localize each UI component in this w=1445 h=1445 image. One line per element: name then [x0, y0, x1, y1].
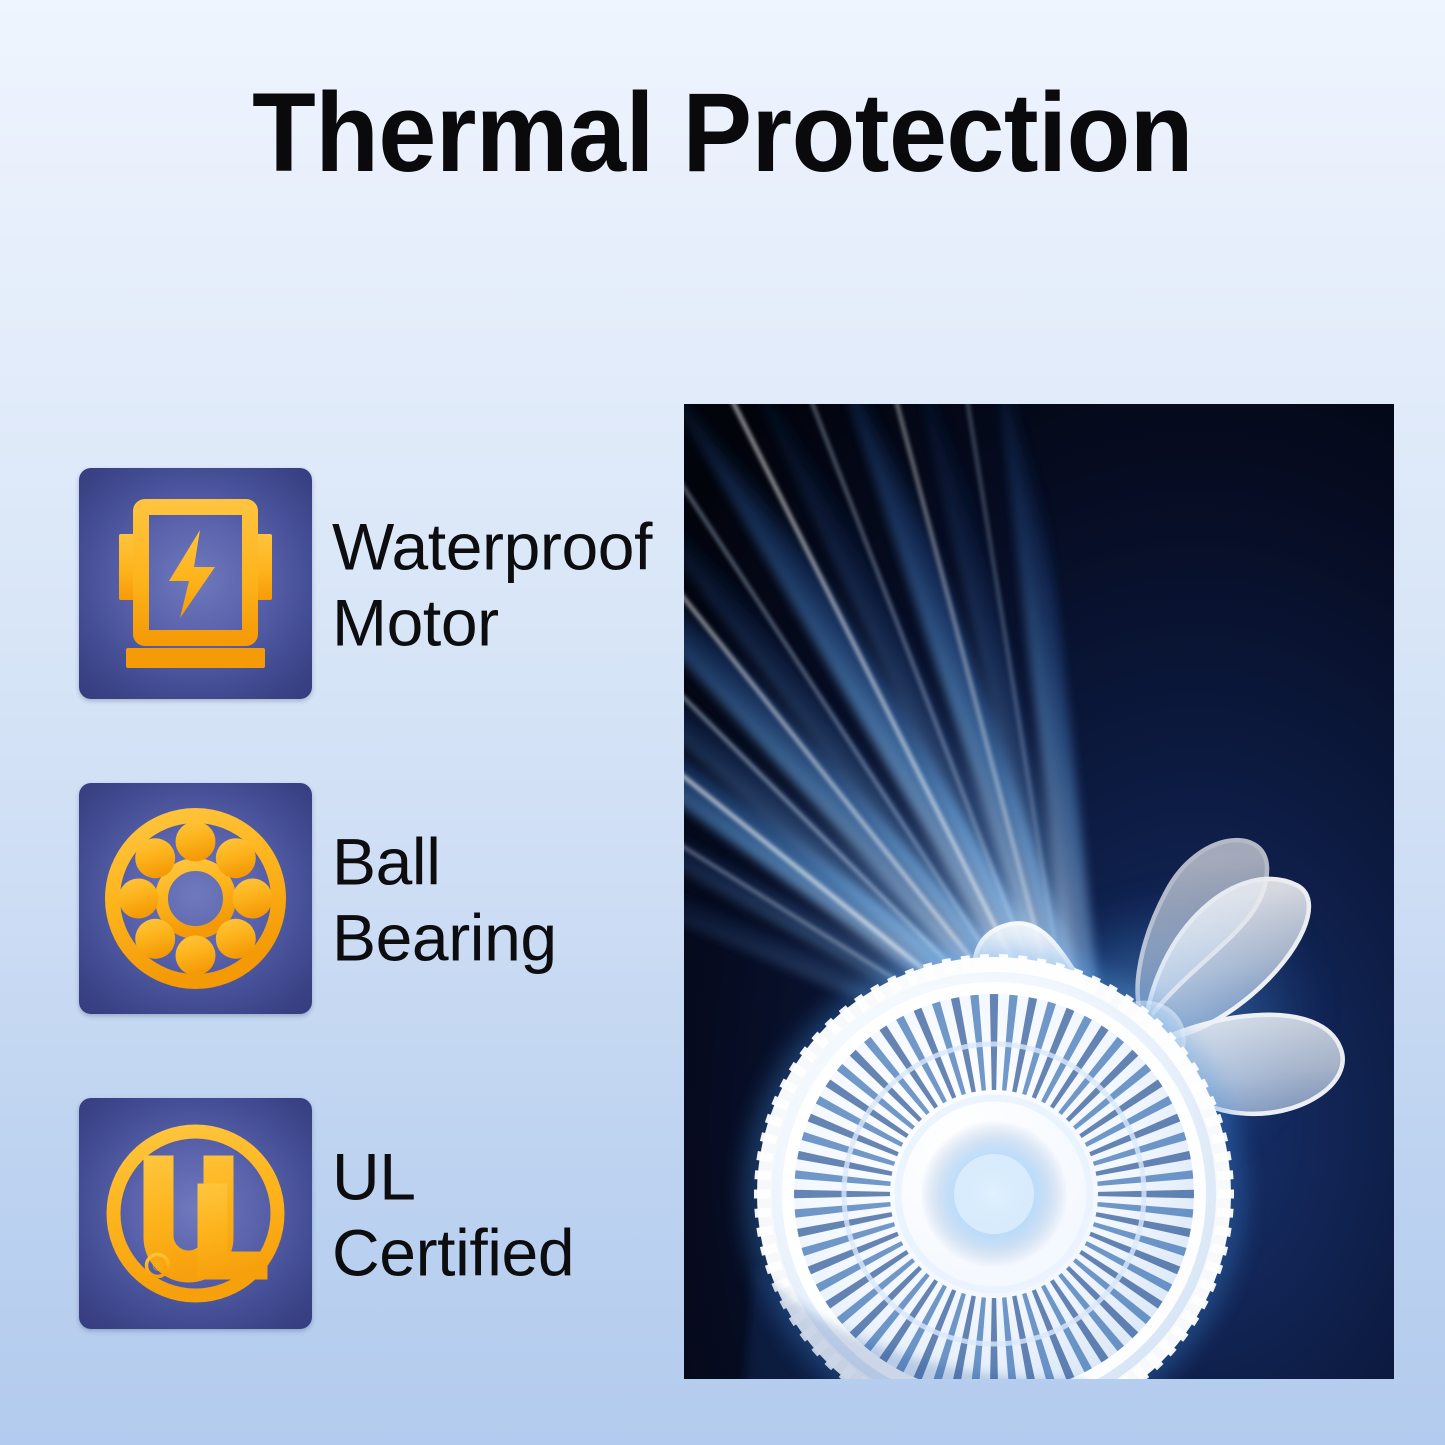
feature-label-ul-certified: UL Certified — [332, 1138, 574, 1291]
feature-list: Waterproof Motor — [79, 468, 679, 1331]
fan-motor-exploded-image — [684, 404, 1394, 1379]
ball-bearing-icon-tile — [79, 783, 312, 1014]
infographic-page: Thermal Protection — [0, 0, 1445, 1445]
registered-mark-glyph: ® — [152, 1260, 163, 1275]
product-photo-panel — [684, 404, 1394, 1379]
feature-item-ball-bearing: Ball Bearing — [79, 783, 679, 1016]
waterproof-motor-icon — [79, 468, 312, 699]
feature-item-waterproof-motor: Waterproof Motor — [79, 468, 679, 701]
ball-bearing-icon — [79, 783, 312, 1014]
feature-label-ball-bearing: Ball Bearing — [332, 823, 557, 976]
ul-certified-icon-tile: ® — [79, 1098, 312, 1329]
ul-certified-icon: ® — [79, 1098, 312, 1329]
waterproof-motor-icon-tile — [79, 468, 312, 699]
page-title: Thermal Protection — [51, 76, 1395, 190]
feature-item-ul-certified: ® UL Certified — [79, 1098, 679, 1331]
feature-label-waterproof-motor: Waterproof Motor — [332, 508, 652, 661]
